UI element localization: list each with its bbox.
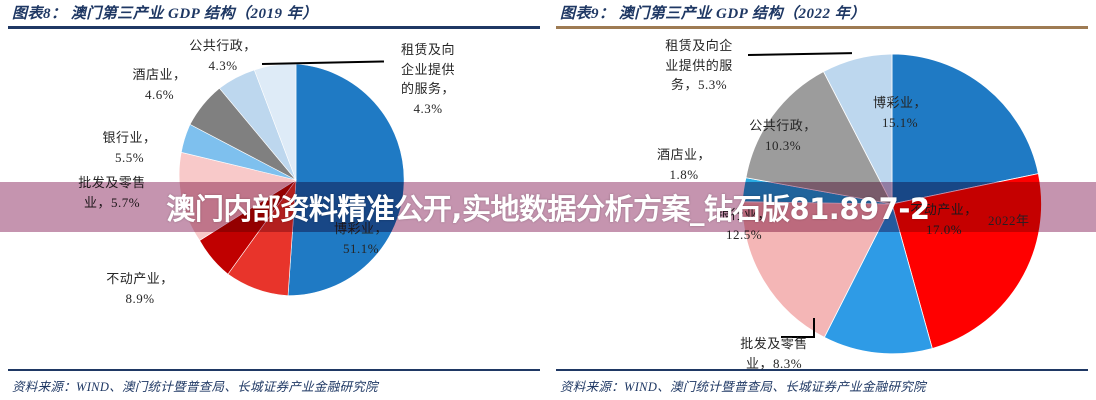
pie-2022-label-bank: 银行业， 12.5% <box>694 205 794 244</box>
pie-2022-label-wholesale: 批发及零售 业，8.3% <box>722 334 826 373</box>
pie-2022-label-gaming: 博彩业， 15.1% <box>850 93 950 132</box>
year-annotation-2022: 2022年 <box>988 211 1058 231</box>
figure-8-title: 图表8： 澳门第三产业 GDP 结构（2019 年） <box>12 2 318 23</box>
pie-2019-svg <box>178 62 414 298</box>
figure-8-footer-rule <box>8 369 540 371</box>
figure-9-title: 图表9： 澳门第三产业 GDP 结构（2022 年） <box>560 2 866 23</box>
pie-chart-2019 <box>178 62 414 298</box>
pie-2022-label-hotel: 酒店业， 1.8% <box>636 145 732 184</box>
pie-2022-label-leasing: 租赁及向企 业提供的服 务，5.3% <box>645 36 753 95</box>
pie-2019-label-gaming: 博彩业， 51.1% <box>313 219 409 258</box>
pie-2019-label-bank: 银行业， 5.5% <box>82 128 177 167</box>
pie-2022-label-realestate: 不动产业， 17.0% <box>892 200 996 239</box>
figure-9-title-rule <box>556 26 1088 29</box>
figure-9-source: 资料来源：WIND、澳门统计暨普查局、长城证券产业金融研究院 <box>560 376 926 395</box>
figure-pair-root: 图表8： 澳门第三产业 GDP 结构（2019 年） <box>0 0 1096 400</box>
figure-8-title-rule <box>8 26 540 29</box>
pie-2019-label-realestate: 不动产业， 8.9% <box>85 269 195 308</box>
pie-2019-label-wholesale: 批发及零售 业，5.7% <box>60 173 164 212</box>
pie-2022-label-public-admin: 公共行政， 10.3% <box>728 116 838 155</box>
pie-2019-label-leasing: 租赁及向 企业提供 的服务， 4.3% <box>383 40 473 118</box>
figure-8-source: 资料来源：WIND、澳门统计暨普查局、长城证券产业金融研究院 <box>12 376 378 395</box>
pie-2019-label-hotel: 酒店业， 4.6% <box>112 65 207 104</box>
